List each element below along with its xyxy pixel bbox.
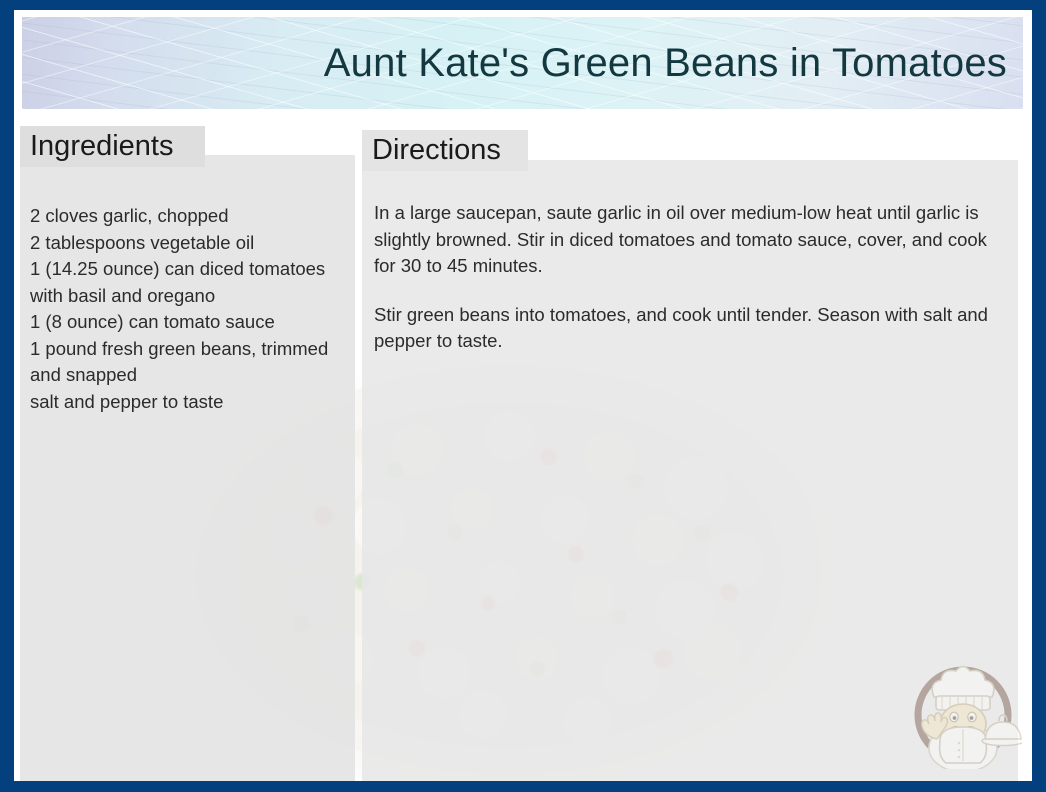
direction-step: In a large saucepan, saute garlic in oil… (374, 200, 1004, 280)
ingredient-item: salt and pepper to taste (30, 389, 348, 416)
direction-step: Stir green beans into tomatoes, and cook… (374, 302, 1004, 355)
directions-panel: In a large saucepan, saute garlic in oil… (362, 160, 1018, 781)
recipe-card-inner: Aunt Kate's Green Beans in Tomatoes 2 cl… (14, 10, 1032, 781)
page-title: Aunt Kate's Green Beans in Tomatoes (324, 41, 1007, 86)
directions-heading-tab: Directions (362, 130, 528, 171)
ingredient-item: 2 tablespoons vegetable oil (30, 230, 348, 257)
ingredients-list: 2 cloves garlic, chopped2 tablespoons ve… (30, 203, 348, 415)
ingredient-item: 1 pound fresh green beans, trimmed and s… (30, 336, 348, 389)
title-banner: Aunt Kate's Green Beans in Tomatoes (22, 17, 1023, 109)
ingredients-panel: 2 cloves garlic, chopped2 tablespoons ve… (20, 155, 355, 781)
directions-heading: Directions (372, 136, 501, 165)
ingredient-item: 1 (14.25 ounce) can diced tomatoes with … (30, 256, 348, 309)
ingredients-heading-tab: Ingredients (20, 126, 205, 167)
directions-list: In a large saucepan, saute garlic in oil… (374, 200, 1004, 355)
ingredient-item: 1 (8 ounce) can tomato sauce (30, 309, 348, 336)
ingredient-item: 2 cloves garlic, chopped (30, 203, 348, 230)
recipe-card: Aunt Kate's Green Beans in Tomatoes 2 cl… (0, 0, 1046, 792)
ingredients-heading: Ingredients (30, 132, 174, 161)
